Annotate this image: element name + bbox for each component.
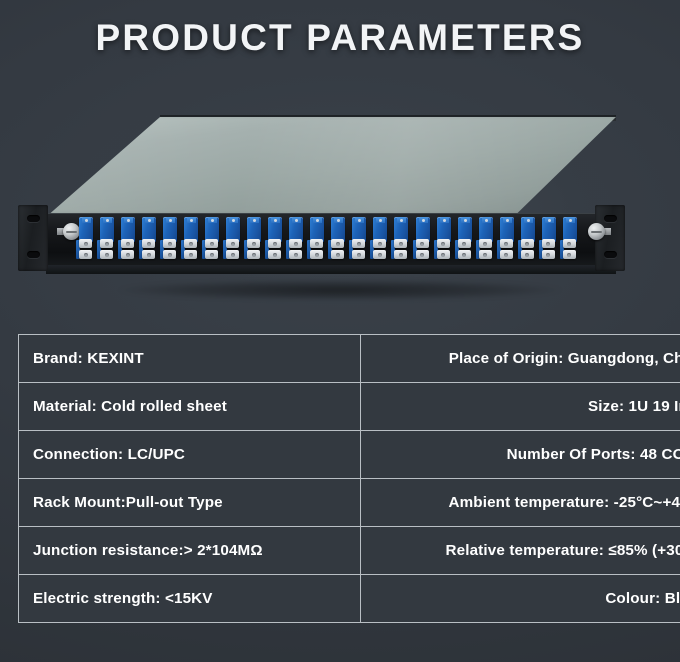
lc-dust-caps (330, 239, 346, 260)
lc-ferrule-hole (189, 253, 193, 257)
lc-dust-cap (563, 250, 576, 259)
thumbscrew-right-icon (588, 223, 605, 240)
lc-ferrule-hole (483, 242, 487, 246)
spec-cell-right: Colour: Black (361, 575, 680, 623)
lc-ferrule-hole (294, 253, 298, 257)
lc-dust-caps (478, 239, 494, 260)
lc-duplex-adapter (78, 215, 94, 261)
lc-ferrule-hole (315, 242, 319, 246)
lc-adapter-screw (85, 219, 88, 222)
lc-ferrule-hole (168, 242, 172, 246)
lc-adapter-screw (422, 219, 425, 222)
lc-dust-caps (499, 239, 515, 260)
lc-dust-cap (416, 250, 429, 259)
lc-ferrule-hole (483, 253, 487, 257)
lc-duplex-adapter (478, 215, 494, 261)
lc-dust-caps (204, 239, 220, 260)
lc-dust-caps (267, 239, 283, 260)
lc-ferrule-hole (210, 242, 214, 246)
lc-dust-cap (247, 250, 260, 259)
lc-dust-cap (542, 250, 555, 259)
lc-ferrule-hole (252, 242, 256, 246)
lc-dust-caps (225, 239, 241, 260)
lc-dust-cap (458, 239, 471, 248)
lc-ferrule-hole (168, 253, 172, 257)
lc-dust-cap (458, 250, 471, 259)
spec-cell-right: Size: 1U 19 Inch (361, 383, 680, 431)
lc-ferrule-hole (441, 242, 445, 246)
lc-duplex-adapter (99, 215, 115, 261)
lc-ferrule-hole (525, 242, 529, 246)
lc-ferrule-hole (357, 242, 361, 246)
lc-dust-cap (226, 250, 239, 259)
lc-dust-cap (79, 239, 92, 248)
lc-ferrule-hole (147, 253, 151, 257)
lc-adapter-screw (464, 219, 467, 222)
lc-dust-caps (351, 239, 367, 260)
spec-table-row: Junction resistance:> 2*104MΩRelative te… (19, 527, 680, 575)
lc-dust-caps (183, 239, 199, 260)
lc-dust-cap (521, 250, 534, 259)
lc-duplex-adapter (393, 215, 409, 261)
lc-dust-cap (79, 250, 92, 259)
rack-ear-hole (604, 215, 617, 222)
lc-ferrule-hole (294, 242, 298, 246)
spec-table-row: Material: Cold rolled sheetSize: 1U 19 I… (19, 383, 680, 431)
lc-dust-cap (163, 239, 176, 248)
lc-ferrule-hole (462, 253, 466, 257)
lc-dust-cap (479, 250, 492, 259)
lc-ferrule-hole (105, 253, 109, 257)
lc-ferrule-hole (336, 242, 340, 246)
lc-dust-cap (100, 250, 113, 259)
lc-dust-cap (542, 239, 555, 248)
lc-duplex-adapter (183, 215, 199, 261)
lc-dust-cap (416, 239, 429, 248)
lc-ferrule-hole (567, 242, 571, 246)
lc-dust-caps (162, 239, 178, 260)
lc-ferrule-hole (273, 242, 277, 246)
lc-duplex-adapter (288, 215, 304, 261)
panel-top-lid (46, 117, 616, 217)
thumbscrew-slot (66, 231, 77, 233)
lc-duplex-adapter (520, 215, 536, 261)
lc-ferrule-hole (147, 242, 151, 246)
lc-ferrule-hole (462, 242, 466, 246)
lc-dust-cap (373, 250, 386, 259)
page-title: PRODUCT PARAMETERS (95, 18, 584, 59)
spec-cell-left: Electric strength: <15KV (19, 575, 361, 623)
lc-dust-cap (373, 239, 386, 248)
lc-dust-caps (393, 239, 409, 260)
lc-dust-cap (394, 250, 407, 259)
lc-dust-caps (541, 239, 557, 260)
lc-ferrule-hole (273, 253, 277, 257)
lc-ferrule-hole (504, 242, 508, 246)
lc-dust-cap (289, 250, 302, 259)
lc-duplex-adapter (541, 215, 557, 261)
lc-dust-cap (205, 239, 218, 248)
lc-dust-cap (352, 250, 365, 259)
lc-dust-cap (184, 250, 197, 259)
lc-duplex-adapter (330, 215, 346, 261)
thumbscrew-head (588, 223, 605, 240)
lc-duplex-adapter (162, 215, 178, 261)
lc-duplex-adapter (309, 215, 325, 261)
rack-ear-hole (604, 251, 617, 258)
lc-dust-cap (521, 239, 534, 248)
page-title-container: PRODUCT PARAMETERS (0, 18, 680, 59)
product-parameters-page: PRODUCT PARAMETERS (0, 0, 680, 662)
spec-table-row: Connection: LC/UPCNumber Of Ports: 48 CO… (19, 431, 680, 479)
lc-dust-cap (500, 250, 513, 259)
lc-dust-caps (457, 239, 473, 260)
lc-dust-cap (121, 239, 134, 248)
lc-dust-caps (415, 239, 431, 260)
lc-ferrule-hole (420, 242, 424, 246)
lc-dust-cap (310, 250, 323, 259)
spec-cell-right: Number Of Ports: 48 CORE (361, 431, 680, 479)
lc-dust-caps (120, 239, 136, 260)
lc-ferrule-hole (336, 253, 340, 257)
lc-ferrule-hole (399, 242, 403, 246)
lc-adapter-row (78, 215, 578, 265)
spec-cell-right: Place of Origin: Guangdong, China (361, 335, 680, 383)
lc-ferrule-hole (105, 242, 109, 246)
lc-ferrule-hole (231, 253, 235, 257)
lc-dust-cap (479, 239, 492, 248)
lc-dust-caps (436, 239, 452, 260)
lc-duplex-adapter (225, 215, 241, 261)
lc-adapter-screw (548, 219, 551, 222)
lc-dust-caps (372, 239, 388, 260)
lc-dust-caps (246, 239, 262, 260)
lc-dust-cap (563, 239, 576, 248)
lc-duplex-adapter (372, 215, 388, 261)
lc-dust-cap (331, 250, 344, 259)
lc-dust-cap (437, 250, 450, 259)
lc-ferrule-hole (126, 253, 130, 257)
lc-dust-cap (310, 239, 323, 248)
lc-ferrule-hole (378, 253, 382, 257)
lc-ferrule-hole (399, 253, 403, 257)
lc-duplex-adapter (120, 215, 136, 261)
lc-dust-caps (520, 239, 536, 260)
lc-duplex-adapter (267, 215, 283, 261)
lc-ferrule-hole (546, 242, 550, 246)
lc-duplex-adapter (351, 215, 367, 261)
lc-duplex-adapter (457, 215, 473, 261)
panel-front-face-lower-edge (46, 265, 616, 274)
lc-ferrule-hole (357, 253, 361, 257)
product-image (0, 95, 680, 310)
spec-table-row: Rack Mount:Pull-out TypeAmbient temperat… (19, 479, 680, 527)
lc-ferrule-hole (378, 242, 382, 246)
lc-ferrule-hole (252, 253, 256, 257)
spec-table-row: Electric strength: <15KVColour: Black (19, 575, 680, 623)
lc-duplex-adapter (246, 215, 262, 261)
lc-dust-cap (121, 250, 134, 259)
lc-dust-cap (331, 239, 344, 248)
spec-cell-left: Brand: KEXINT (19, 335, 361, 383)
spec-table-row: Brand: KEXINTPlace of Origin: Guangdong,… (19, 335, 680, 383)
lc-dust-cap (500, 239, 513, 248)
lc-ferrule-hole (567, 253, 571, 257)
device-drop-shadow (60, 277, 620, 303)
lc-dust-caps (288, 239, 304, 260)
spec-cell-left: Connection: LC/UPC (19, 431, 361, 479)
lc-adapter-screw (506, 219, 509, 222)
lc-adapter-screw (443, 219, 446, 222)
lc-duplex-adapter (415, 215, 431, 261)
lc-ferrule-hole (84, 242, 88, 246)
lc-ferrule-hole (210, 253, 214, 257)
lc-dust-caps (78, 239, 94, 260)
specification-table: Brand: KEXINTPlace of Origin: Guangdong,… (18, 334, 680, 623)
lc-dust-cap (226, 239, 239, 248)
rack-ear-hole (27, 251, 40, 258)
lc-adapter-screw (485, 219, 488, 222)
thumbscrew-slot (591, 231, 602, 233)
lc-dust-cap (268, 250, 281, 259)
lc-dust-caps (309, 239, 325, 260)
lc-dust-cap (247, 239, 260, 248)
rack-ear-hole (27, 215, 40, 222)
lc-dust-caps (141, 239, 157, 260)
lc-dust-cap (142, 239, 155, 248)
lc-dust-cap (163, 250, 176, 259)
lc-dust-caps (562, 239, 578, 260)
lc-ferrule-hole (525, 253, 529, 257)
spec-cell-right: Relative temperature: ≤85% (+30°C) (361, 527, 680, 575)
lc-ferrule-hole (441, 253, 445, 257)
spec-cell-left: Material: Cold rolled sheet (19, 383, 361, 431)
lc-duplex-adapter (141, 215, 157, 261)
lc-adapter-screw (527, 219, 530, 222)
lc-dust-cap (205, 250, 218, 259)
lc-dust-cap (142, 250, 155, 259)
lc-dust-cap (184, 239, 197, 248)
lc-dust-cap (437, 239, 450, 248)
lc-ferrule-hole (420, 253, 424, 257)
lc-duplex-adapter (204, 215, 220, 261)
spec-cell-left: Junction resistance:> 2*104MΩ (19, 527, 361, 575)
lc-ferrule-hole (84, 253, 88, 257)
lc-ferrule-hole (126, 242, 130, 246)
lc-ferrule-hole (504, 253, 508, 257)
lc-dust-cap (394, 239, 407, 248)
lc-dust-cap (100, 239, 113, 248)
lc-dust-cap (352, 239, 365, 248)
lc-ferrule-hole (546, 253, 550, 257)
lc-dust-cap (268, 239, 281, 248)
lc-duplex-adapter (499, 215, 515, 261)
lc-adapter-screw (569, 219, 572, 222)
lc-ferrule-hole (231, 242, 235, 246)
lc-ferrule-hole (315, 253, 319, 257)
lc-duplex-adapter (436, 215, 452, 261)
lc-duplex-adapter (562, 215, 578, 261)
spec-cell-right: Ambient temperature: -25°C~+40°C (361, 479, 680, 527)
spec-cell-left: Rack Mount:Pull-out Type (19, 479, 361, 527)
lc-dust-caps (99, 239, 115, 260)
lc-ferrule-hole (189, 242, 193, 246)
rack-ear-left (18, 205, 48, 271)
lc-dust-cap (289, 239, 302, 248)
